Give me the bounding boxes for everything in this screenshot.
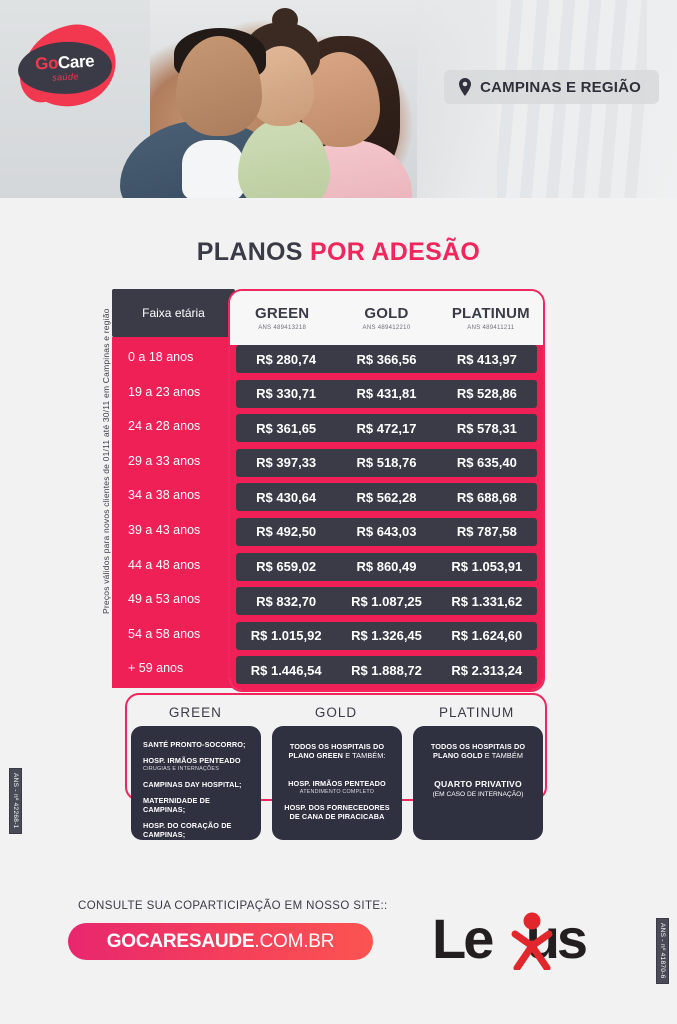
table-row: R$ 1.015,92 R$ 1.326,45 R$ 1.624,60 xyxy=(236,622,537,650)
location-label: CAMPINAS E REGIÃO xyxy=(480,79,641,96)
price-gold: R$ 643,03 xyxy=(336,524,436,539)
age-cell: 29 a 33 anos xyxy=(112,447,235,475)
benefit-highlight: QUARTO PRIVATIVO xyxy=(425,779,531,789)
plan-headers: GREEN ANS 489413218 GOLD ANS 489412210 P… xyxy=(230,291,543,345)
age-cell: 39 a 43 anos xyxy=(112,516,235,544)
plan-header-gold: GOLD ANS 489412210 xyxy=(334,291,438,345)
benefit-item: HOSP. DO CORAÇÃO DE CAMPINAS; xyxy=(143,821,249,839)
price-panel: GREEN ANS 489413218 GOLD ANS 489412210 P… xyxy=(228,289,545,692)
price-platinum: R$ 413,97 xyxy=(437,352,537,367)
footer: CONSULTE SUA COPARTICIPAÇÃO EM NOSSO SIT… xyxy=(0,878,677,998)
benefit-card-gold: TODOS OS HOSPITAIS DO PLANO GREEN E TAMB… xyxy=(272,726,402,840)
price-platinum: R$ 1.053,91 xyxy=(437,559,537,574)
table-row: R$ 832,70 R$ 1.087,25 R$ 1.331,62 xyxy=(236,587,537,615)
price-gold: R$ 860,49 xyxy=(336,559,436,574)
table-row: R$ 330,71 R$ 431,81 R$ 528,86 xyxy=(236,380,537,408)
age-cell: + 59 anos xyxy=(112,654,235,682)
benefit-item-subtitle: CIRUGIAS E INTERNAÇÕES xyxy=(143,766,249,773)
ans-badge-left: ANS - nº 42268-1 xyxy=(9,768,22,834)
age-cell: 34 a 38 anos xyxy=(112,481,235,509)
table-row: R$ 492,50 R$ 643,03 R$ 787,58 xyxy=(236,518,537,546)
plan-ans-code: ANS 489412210 xyxy=(363,325,411,331)
benefit-inherit-rest: E TAMBÉM: xyxy=(343,751,386,760)
table-row: R$ 1.446,54 R$ 1.888,72 R$ 2.313,24 xyxy=(236,656,537,684)
price-platinum: R$ 1.624,60 xyxy=(437,628,537,643)
website-bold: GOCARESAUDE xyxy=(107,931,255,953)
title-part-adesao: POR ADESÃO xyxy=(310,238,480,266)
benefit-headers: GREEN GOLD PLATINUM xyxy=(125,705,547,720)
price-platinum: R$ 635,40 xyxy=(437,455,537,470)
benefit-cards: SANTÉ PRONTO-SOCORRO; HOSP. IRMÃOS PENTE… xyxy=(131,726,543,840)
benefit-header-green: GREEN xyxy=(125,705,266,720)
benefit-item: HOSP. DOS FORNECEDORES DE CANA DE PIRACI… xyxy=(284,803,390,821)
price-green: R$ 280,74 xyxy=(236,352,336,367)
website-rest: .COM.BR xyxy=(254,931,334,953)
benefits-section: GREEN GOLD PLATINUM SANTÉ PRONTO-SOCORRO… xyxy=(0,693,677,868)
price-platinum: R$ 688,68 xyxy=(437,490,537,505)
price-platinum: R$ 787,58 xyxy=(437,524,537,539)
price-platinum: R$ 578,31 xyxy=(437,421,537,436)
price-gold: R$ 1.888,72 xyxy=(336,663,436,678)
price-gold: R$ 431,81 xyxy=(336,386,436,401)
benefit-card-green: SANTÉ PRONTO-SOCORRO; HOSP. IRMÃOS PENTE… xyxy=(131,726,261,840)
logo-tagline: saúde xyxy=(52,71,79,82)
logo-care-text: Care xyxy=(58,51,95,72)
price-gold: R$ 1.326,45 xyxy=(336,628,436,643)
location-badge[interactable]: CAMPINAS E REGIÃO xyxy=(444,70,659,104)
person-figure-icon xyxy=(509,912,555,970)
benefit-item-title: HOSP. IRMÃOS PENTEADO xyxy=(288,779,386,788)
price-platinum: R$ 1.331,62 xyxy=(437,594,537,609)
logo-go-text: Go xyxy=(35,53,59,73)
age-cell: 54 a 58 anos xyxy=(112,620,235,648)
table-row: R$ 659,02 R$ 860,49 R$ 1.053,91 xyxy=(236,553,537,581)
lexus-logo[interactable]: LeXus xyxy=(432,902,637,976)
benefit-item: MATERNIDADE DE CAMPINAS; xyxy=(143,796,249,814)
spacer xyxy=(425,767,531,779)
benefit-card-platinum: TODOS OS HOSPITAIS DO PLANO GOLD E TAMBÉ… xyxy=(413,726,543,840)
age-cell: 0 a 18 anos xyxy=(112,343,235,371)
price-green: R$ 1.015,92 xyxy=(236,628,336,643)
pricing-table: Preços válidos para novos clientes de 01… xyxy=(0,289,677,689)
benefit-inherit-note: TODOS OS HOSPITAIS DO PLANO GOLD E TAMBÉ… xyxy=(425,742,531,760)
benefit-highlight-note: (EM CASO DE INTERNAÇÃO) xyxy=(425,791,531,798)
benefit-header-platinum: PLATINUM xyxy=(406,705,547,720)
benefit-inherit-rest: E TAMBÉM xyxy=(483,751,523,760)
lexus-left-text: Le xyxy=(432,907,491,970)
cta-label: CONSULTE SUA COPARTICIPAÇÃO EM NOSSO SIT… xyxy=(78,900,388,912)
title-part-planos: PLANOS xyxy=(197,238,310,266)
benefit-item: HOSP. IRMÃOS PENTEADO ATENDIMENTO COMPLE… xyxy=(284,779,390,796)
benefit-inherit-note: TODOS OS HOSPITAIS DO PLANO GREEN E TAMB… xyxy=(284,742,390,760)
price-rows: R$ 280,74 R$ 366,56 R$ 413,97 R$ 330,71 … xyxy=(230,345,543,690)
age-cell: 49 a 53 anos xyxy=(112,585,235,613)
website-button[interactable]: GOCARESAUDE.COM.BR xyxy=(68,923,373,960)
person-man-shirt xyxy=(182,140,244,198)
price-gold: R$ 472,17 xyxy=(336,421,436,436)
age-column: Faixa etária 0 a 18 anos 19 a 23 anos 24… xyxy=(112,289,235,688)
price-gold: R$ 366,56 xyxy=(336,352,436,367)
price-platinum: R$ 528,86 xyxy=(437,386,537,401)
benefit-item-title: HOSP. IRMÃOS PENTEADO xyxy=(143,756,241,765)
price-gold: R$ 562,28 xyxy=(336,490,436,505)
price-green: R$ 492,50 xyxy=(236,524,336,539)
logo-wordmark: GoCare xyxy=(35,52,95,72)
plan-header-green: GREEN ANS 489413218 xyxy=(230,291,334,345)
plan-name: PLATINUM xyxy=(452,305,530,322)
age-column-header: Faixa etária xyxy=(112,289,235,337)
price-green: R$ 330,71 xyxy=(236,386,336,401)
plan-header-platinum: PLATINUM ANS 489411211 xyxy=(439,291,543,345)
table-row: R$ 430,64 R$ 562,28 R$ 688,68 xyxy=(236,483,537,511)
benefit-item: SANTÉ PRONTO-SOCORRO; xyxy=(143,740,249,749)
price-green: R$ 1.446,54 xyxy=(236,663,336,678)
plan-name: GOLD xyxy=(364,305,408,322)
age-cell: 44 a 48 anos xyxy=(112,551,235,579)
hero-banner: GoCare saúde CAMPINAS E REGIÃO xyxy=(0,0,677,198)
price-green: R$ 430,64 xyxy=(236,490,336,505)
price-green: R$ 659,02 xyxy=(236,559,336,574)
price-green: R$ 361,65 xyxy=(236,421,336,436)
map-pin-icon xyxy=(458,78,472,96)
price-green: R$ 832,70 xyxy=(236,594,336,609)
age-cells: 0 a 18 anos 19 a 23 anos 24 a 28 anos 29… xyxy=(112,337,235,688)
table-row: R$ 397,33 R$ 518,76 R$ 635,40 xyxy=(236,449,537,477)
plan-name: GREEN xyxy=(255,305,309,322)
age-cell: 24 a 28 anos xyxy=(112,412,235,440)
benefit-header-gold: GOLD xyxy=(266,705,407,720)
table-row: R$ 280,74 R$ 366,56 R$ 413,97 xyxy=(236,345,537,373)
benefit-item-subtitle: ATENDIMENTO COMPLETO xyxy=(284,789,390,796)
ans-badge-right: ANS - nº 41870-6 xyxy=(656,918,669,984)
price-green: R$ 397,33 xyxy=(236,455,336,470)
benefit-item: HOSP. IRMÃOS PENTEADO CIRUGIAS E INTERNA… xyxy=(143,756,249,773)
price-gold: R$ 518,76 xyxy=(336,455,436,470)
spacer xyxy=(284,767,390,779)
plan-ans-code: ANS 489411211 xyxy=(467,325,514,331)
price-gold: R$ 1.087,25 xyxy=(336,594,436,609)
plan-ans-code: ANS 489413218 xyxy=(258,325,306,331)
page-title: PLANOS POR ADESÃO xyxy=(0,238,677,267)
gocare-logo[interactable]: GoCare saúde xyxy=(14,22,122,110)
validity-note: Preços válidos para novos clientes de 01… xyxy=(101,264,111,614)
benefit-item: CAMPINAS DAY HOSPITAL; xyxy=(143,780,249,789)
age-cell: 19 a 23 anos xyxy=(112,378,235,406)
price-platinum: R$ 2.313,24 xyxy=(437,663,537,678)
table-row: R$ 361,65 R$ 472,17 R$ 578,31 xyxy=(236,414,537,442)
